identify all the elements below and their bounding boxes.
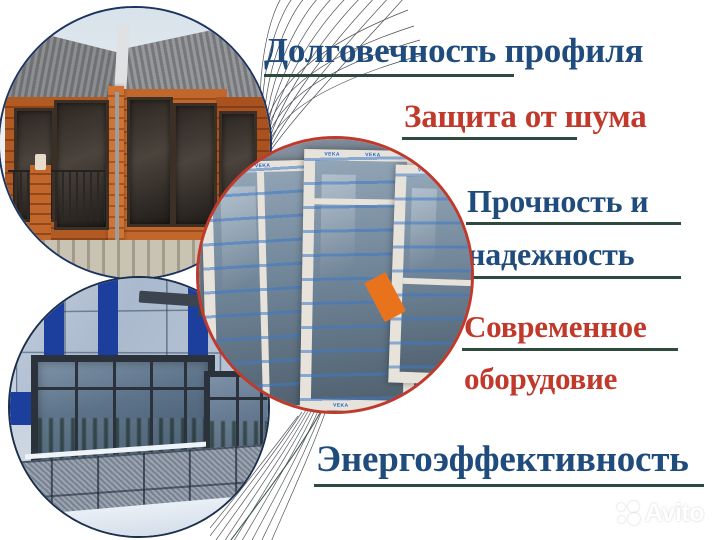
headline-modern: Современное bbox=[464, 309, 647, 345]
veka-logo-6: VEKA bbox=[418, 167, 434, 174]
headline-equipment: оборудовие bbox=[464, 361, 617, 397]
advertisement-banner: VEKA VEKA VEKA VEKA VEKA VEKA Долговечно… bbox=[0, 0, 720, 540]
veka-logo-4: VEKA bbox=[365, 152, 381, 158]
headline-rule-5 bbox=[462, 348, 678, 351]
avito-watermark-label: Avito bbox=[645, 499, 704, 528]
veka-logo-5: VEKA bbox=[333, 403, 349, 409]
avito-dots-icon bbox=[617, 502, 640, 525]
veka-logo-1: VEKA bbox=[218, 164, 234, 170]
headline-strength: Прочность и bbox=[467, 183, 648, 220]
headline-rule-3 bbox=[466, 222, 681, 225]
headline-durability: Долговечность профиля bbox=[264, 31, 643, 71]
headline-reliability: надежность bbox=[467, 236, 634, 273]
headline-energy-efficiency: Энергоэффективность bbox=[316, 438, 689, 481]
headline-rule-7 bbox=[314, 484, 704, 487]
veka-logo-3: VEKA bbox=[325, 151, 341, 157]
veka-logo-2: VEKA bbox=[255, 163, 271, 169]
headline-rule-1 bbox=[264, 74, 514, 77]
avito-watermark: Avito bbox=[617, 499, 704, 528]
photo-pvc-windows: VEKA VEKA VEKA VEKA VEKA VEKA bbox=[196, 136, 474, 414]
headline-noise-protection: Защита от шума bbox=[404, 99, 647, 136]
headline-rule-4 bbox=[466, 276, 681, 279]
